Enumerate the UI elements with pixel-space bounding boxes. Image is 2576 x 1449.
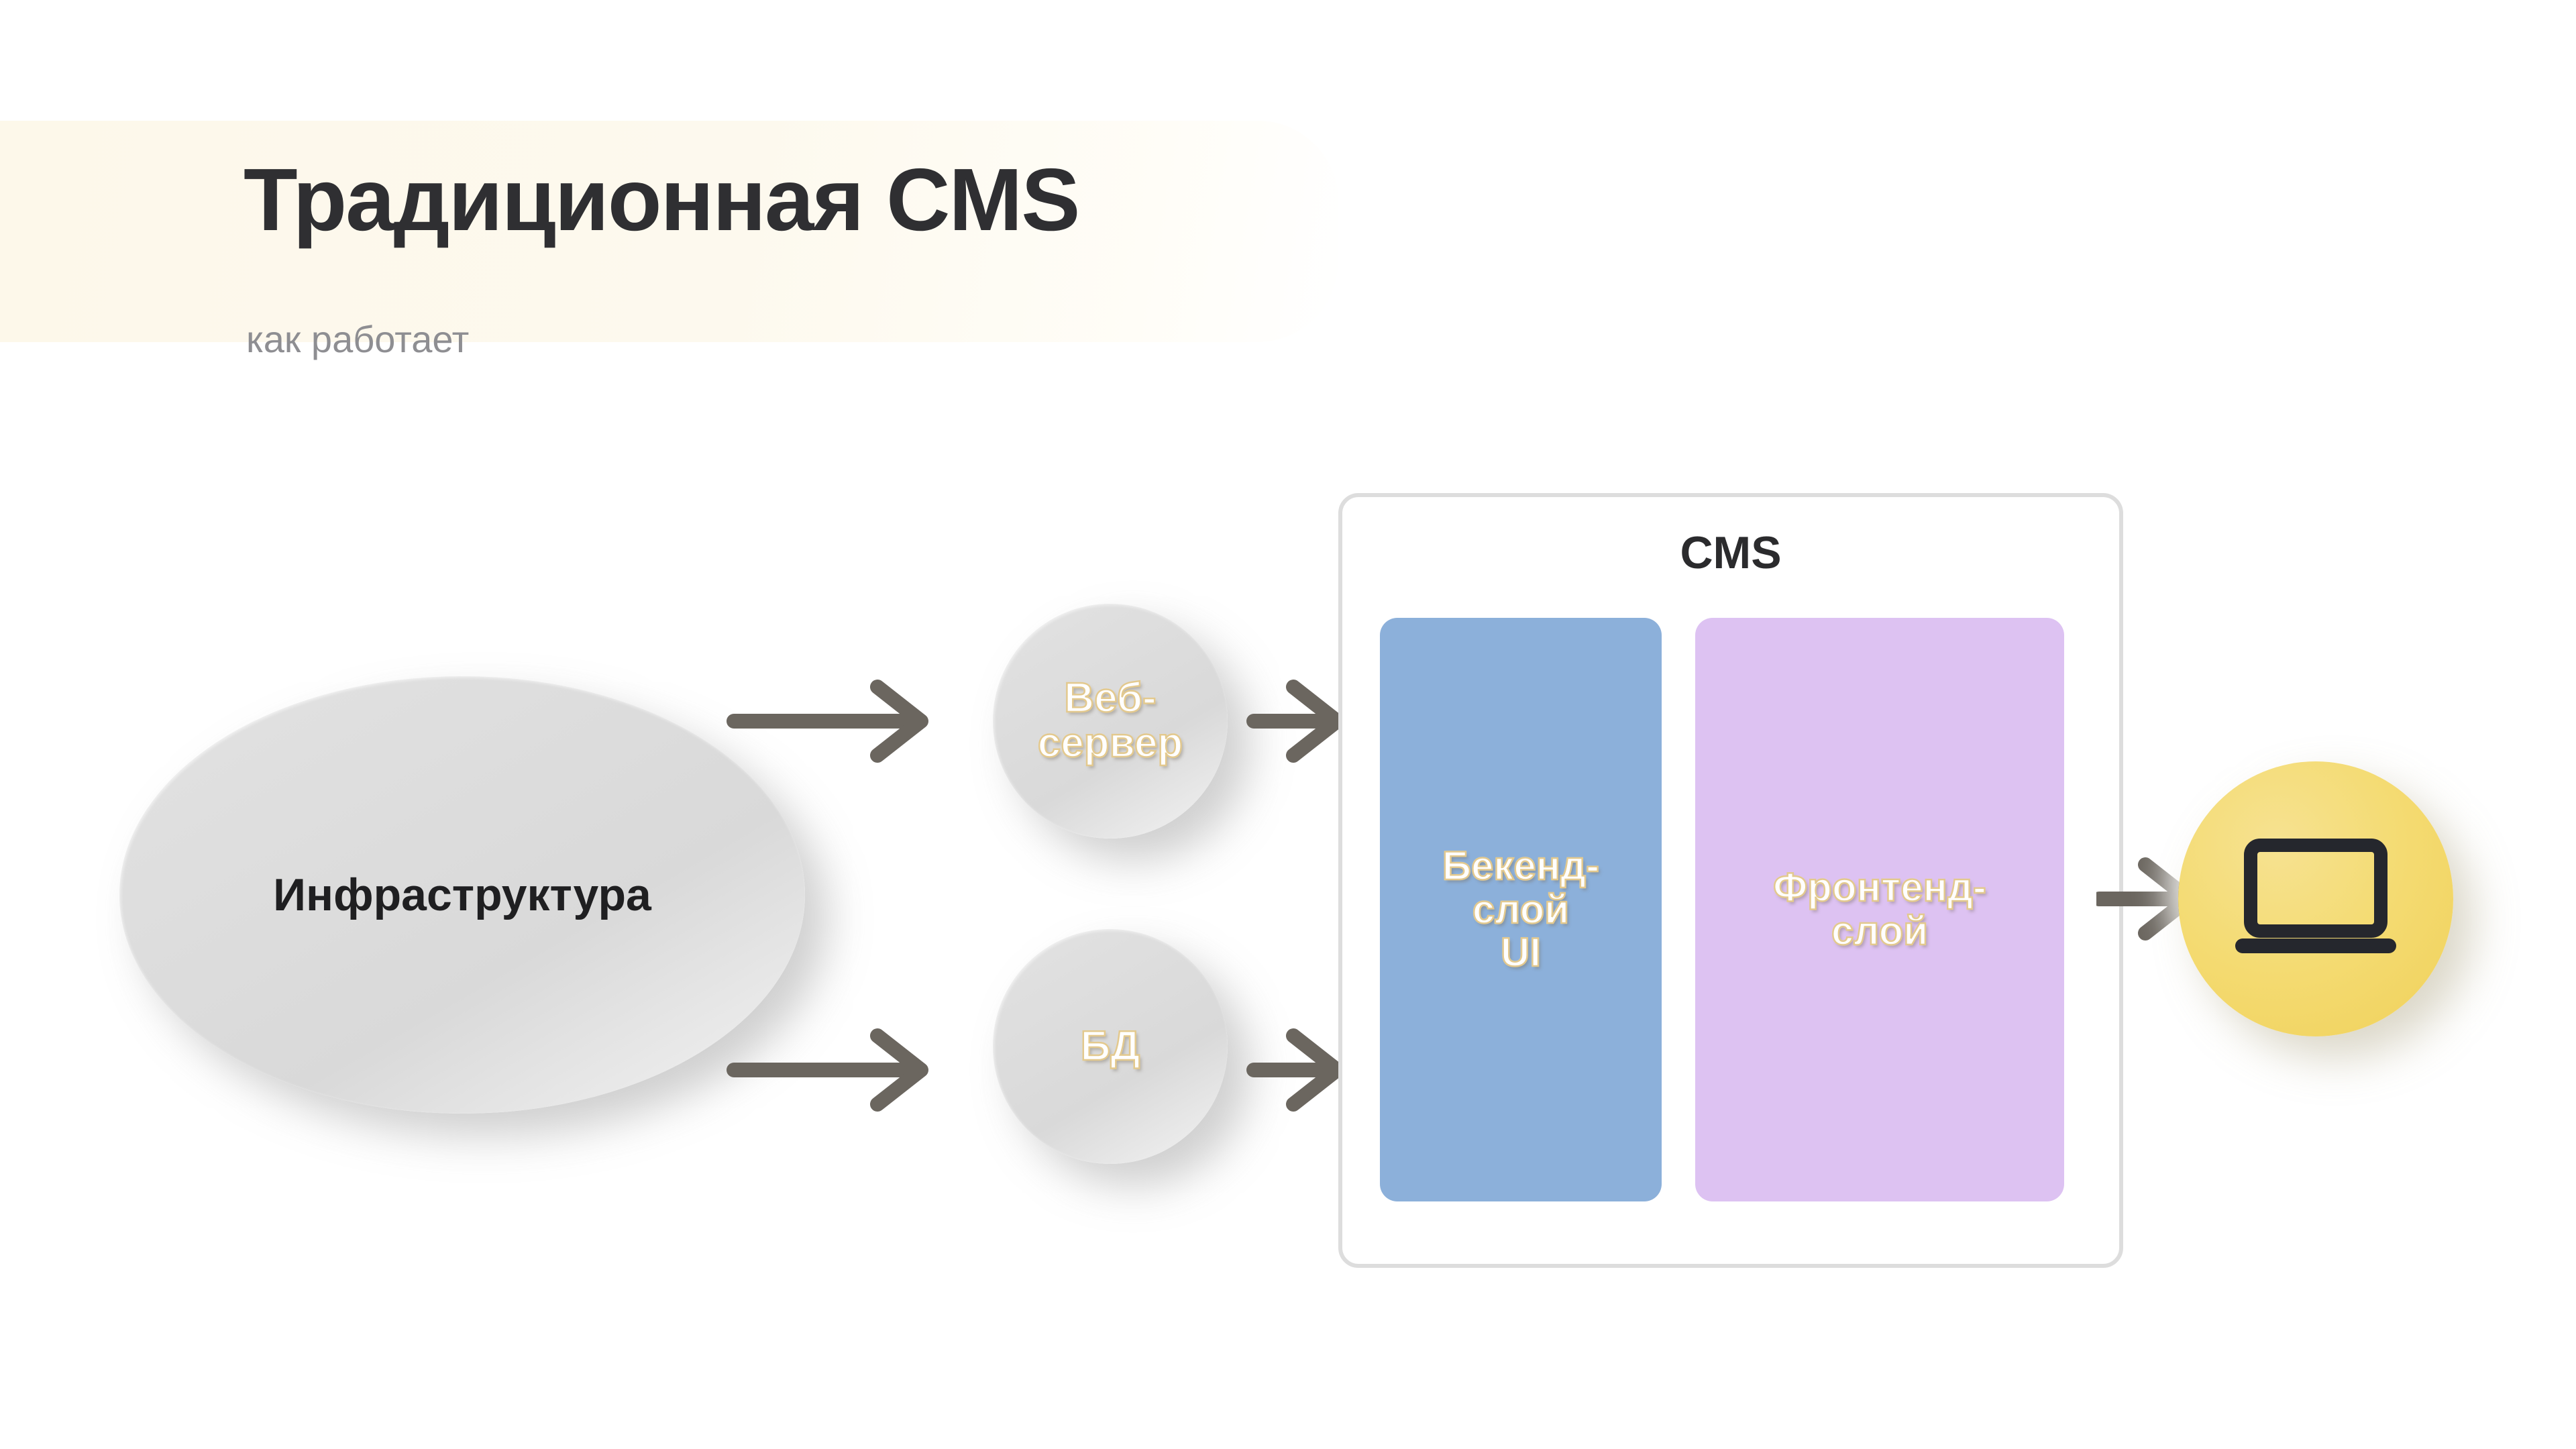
cms-layer-frontend-label: Фронтенд- слой: [1773, 866, 1986, 953]
cms-container[interactable]: CMS Бекенд- слой UI Фронтенд- слой: [1338, 493, 2123, 1268]
cms-layer-backend[interactable]: Бекенд- слой UI: [1380, 618, 1662, 1201]
page-title: Традиционная CMS: [244, 156, 1079, 244]
node-device[interactable]: [2178, 761, 2453, 1036]
node-webserver-label: Веб- сервер: [1038, 676, 1183, 766]
cms-title: CMS: [1342, 527, 2119, 579]
node-database[interactable]: БД: [993, 929, 1228, 1164]
arrow-infrastructure-to-webserver: [724, 678, 946, 765]
node-infrastructure-label: Инфраструктура: [273, 869, 651, 921]
node-webserver[interactable]: Веб- сервер: [993, 604, 1228, 839]
node-database-label: БД: [1081, 1024, 1140, 1069]
laptop-icon: [2232, 839, 2400, 959]
arrow-infrastructure-to-database: [724, 1026, 946, 1114]
node-infrastructure[interactable]: Инфраструктура: [119, 676, 805, 1114]
cms-layer-backend-label: Бекенд- слой UI: [1442, 845, 1599, 975]
page-subtitle: как работает: [246, 321, 469, 358]
cms-layer-frontend[interactable]: Фронтенд- слой: [1695, 618, 2064, 1201]
